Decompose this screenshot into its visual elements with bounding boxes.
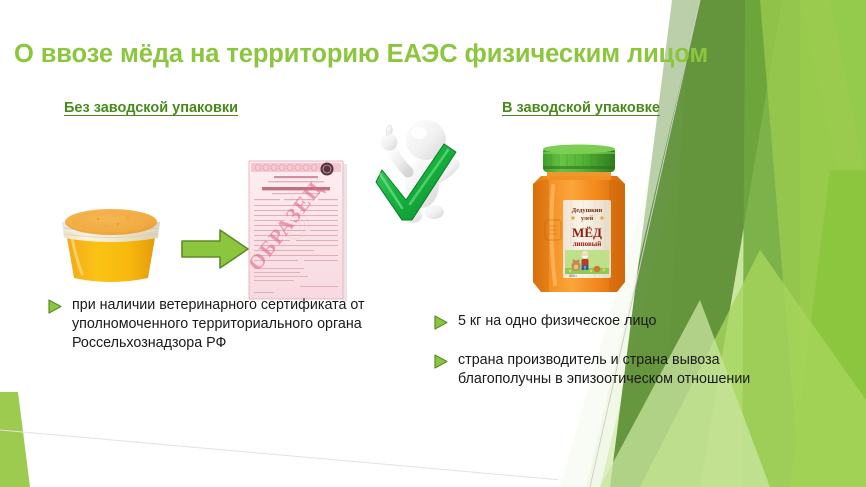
bullet-list-with-packaging: 5 кг на одно физическое лицо страна прои… [432, 312, 792, 403]
thumbs-up-checkmark-image [360, 108, 466, 232]
bullet-text: страна производитель и страна вывоза бла… [458, 351, 792, 389]
veterinary-certificate-image: ОБРАЗЕЦ [248, 160, 348, 305]
decor-wedge-bottom-left [0, 392, 30, 487]
decor-poly-mid-1 [660, 0, 866, 487]
figure-leg-right [424, 205, 444, 219]
figure-arm-left [390, 146, 408, 172]
page-title: О ввозе мёда на территорию ЕАЭС физическ… [14, 40, 714, 69]
jar-label-product: МЁД [572, 225, 602, 240]
list-item: при наличии ветеринарного сертификата от… [46, 296, 391, 353]
arrow-shape [182, 230, 248, 268]
list-item: страна производитель и страна вывоза бла… [432, 351, 792, 389]
triangle-bullet-icon [432, 314, 449, 331]
bullet-text: при наличии ветеринарного сертификата от… [72, 296, 391, 353]
decor-poly-bright-2 [760, 0, 866, 487]
decor-poly-dark-2 [742, 0, 866, 487]
decor-poly-mid-2 [790, 170, 866, 487]
bullet-text: 5 кг на одно физическое лицо [458, 312, 656, 331]
column-heading-without-packaging: Без заводской упаковки [64, 100, 238, 116]
jar-label-brand-2: улей [581, 215, 594, 222]
jar-label-brand: Дедушкин [572, 207, 603, 214]
decor-hairline-2 [0, 430, 640, 487]
decor-poly-light-1 [600, 0, 866, 487]
slide: О ввозе мёда на территорию ЕАЭС физическ… [0, 0, 866, 487]
decor-poly-dark-1 [610, 0, 782, 487]
jar-label-variety: липовый [573, 240, 602, 248]
honey-jar-image: Дедушкин улей МЁД липовый [523, 142, 635, 300]
jar-label-weight: 500 г [569, 274, 578, 278]
list-item: 5 кг на одно физическое лицо [432, 312, 792, 331]
decor-poly-bright-1 [800, 0, 866, 487]
figure-fist [381, 134, 398, 151]
certificate-seal [321, 163, 334, 176]
bullet-list-without-packaging: при наличии ветеринарного сертификата от… [46, 296, 391, 367]
triangle-bullet-icon [432, 353, 449, 370]
green-arrow-image [180, 228, 250, 270]
honey-tub-image [52, 196, 170, 284]
triangle-bullet-icon [46, 298, 63, 315]
column-heading-with-packaging: В заводской упаковке [502, 100, 660, 116]
